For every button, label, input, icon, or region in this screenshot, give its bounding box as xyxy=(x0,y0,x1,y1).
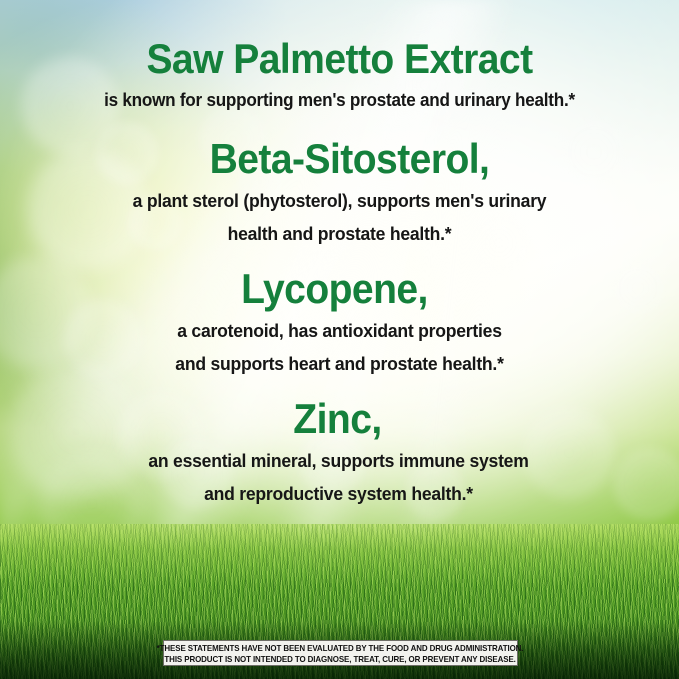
ingredient-block-zinc: Zinc, an essential mineral, supports imm… xyxy=(0,398,679,505)
ingredient-heading: Saw Palmetto Extract xyxy=(24,38,655,80)
ingredient-description-line: is known for supporting men's prostate a… xyxy=(17,89,662,112)
ingredient-block-saw-palmetto: Saw Palmetto Extract is known for suppor… xyxy=(0,38,679,112)
ingredient-heading: Beta-Sitosterol, xyxy=(43,138,656,180)
fda-disclaimer-line-2: THIS PRODUCT IS NOT INTENDED TO DIAGNOSE… xyxy=(165,654,516,665)
ingredient-description-line: health and prostate health.* xyxy=(17,223,662,246)
ingredient-benefits-panel: Saw Palmetto Extract is known for suppor… xyxy=(0,0,679,679)
ingredient-description-line: a carotenoid, has antioxidant properties xyxy=(17,320,662,343)
content-layer: Saw Palmetto Extract is known for suppor… xyxy=(0,0,679,679)
ingredient-description-line: a plant sterol (phytosterol), supports m… xyxy=(17,190,662,213)
ingredient-heading: Lycopene, xyxy=(14,268,655,310)
ingredient-heading: Zinc, xyxy=(20,398,655,440)
ingredient-description-line: and supports heart and prostate health.* xyxy=(17,353,662,376)
ingredient-block-lycopene: Lycopene, a carotenoid, has antioxidant … xyxy=(0,268,679,375)
fda-disclaimer-box: *THESE STATEMENTS HAVE NOT BEEN EVALUATE… xyxy=(163,640,518,666)
ingredient-description-line: an essential mineral, supports immune sy… xyxy=(15,450,662,473)
ingredient-block-beta-sitosterol: Beta-Sitosterol, a plant sterol (phytost… xyxy=(0,138,679,245)
ingredient-description-line: and reproductive system health.* xyxy=(15,483,662,506)
fda-disclaimer-line-1: *THESE STATEMENTS HAVE NOT BEEN EVALUATE… xyxy=(157,643,524,654)
